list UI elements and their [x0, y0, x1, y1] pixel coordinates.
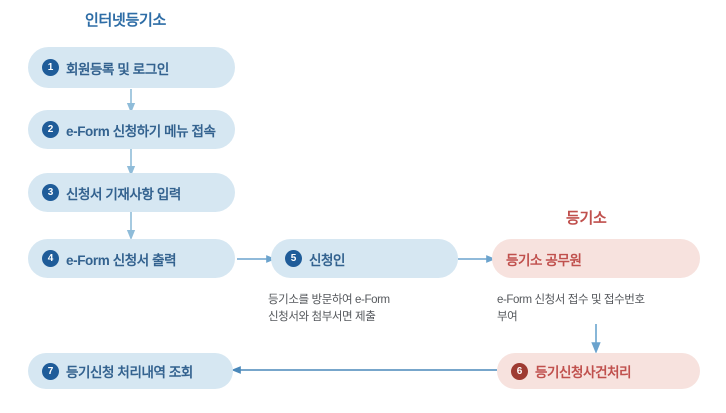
- node-label: 회원등록 및 로그인: [66, 58, 169, 78]
- node-label: 등기신청 처리내역 조회: [66, 361, 193, 381]
- node-label: 신청서 기재사항 입력: [66, 183, 181, 203]
- step-number-badge: 5: [285, 250, 302, 267]
- step-number-badge: 3: [42, 184, 59, 201]
- node-label: 신청인: [309, 249, 345, 269]
- node-label: 등기소 공무원: [506, 249, 581, 269]
- node-eform-print[interactable]: 4 e-Form 신청서 출력: [28, 239, 235, 278]
- flowchart-canvas: 인터넷등기소 등기소 1 회원등록 및 로그인 2 e-Form 신청하기 메뉴…: [0, 0, 726, 413]
- node-registration-status-lookup[interactable]: 7 등기신청 처리내역 조회: [28, 353, 233, 389]
- column-title-registry-office: 등기소: [566, 207, 607, 228]
- node-label: e-Form 신청하기 메뉴 접속: [66, 120, 216, 140]
- step-number-badge: 1: [42, 59, 59, 76]
- step-number-badge: 6: [511, 363, 528, 380]
- step-number-badge: 2: [42, 121, 59, 138]
- node-member-registration-login[interactable]: 1 회원등록 및 로그인: [28, 47, 235, 88]
- column-title-internet-registry: 인터넷등기소: [85, 9, 166, 30]
- node-application-form-input[interactable]: 3 신청서 기재사항 입력: [28, 173, 235, 212]
- node-label: e-Form 신청서 출력: [66, 249, 176, 269]
- step-number-badge: 7: [42, 363, 59, 380]
- step-number-badge: 4: [42, 250, 59, 267]
- node-label: 등기신청사건처리: [535, 361, 631, 381]
- node-registry-officer[interactable]: 등기소 공무원: [492, 239, 700, 278]
- node-eform-apply-menu-access[interactable]: 2 e-Form 신청하기 메뉴 접속: [28, 110, 235, 149]
- node-applicant[interactable]: 5 신청인: [271, 239, 458, 278]
- caption-applicant-note: 등기소를 방문하여 e-Form 신청서와 첨부서면 제출: [268, 292, 458, 326]
- node-registration-case-processing[interactable]: 6 등기신청사건처리: [497, 353, 700, 389]
- caption-officer-note: e-Form 신청서 접수 및 접수번호 부여: [497, 292, 702, 326]
